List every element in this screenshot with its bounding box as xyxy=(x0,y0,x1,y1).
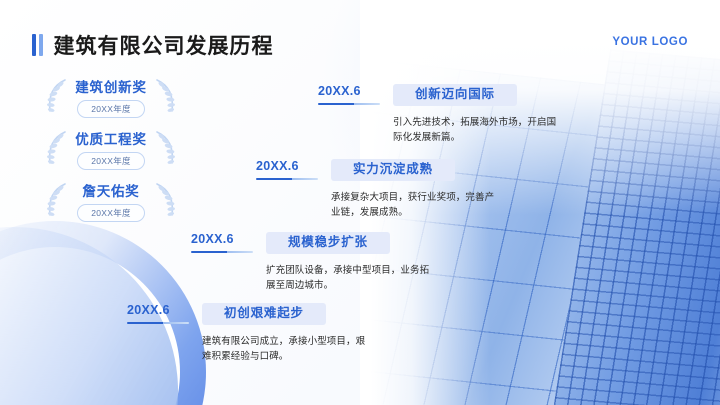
timeline-date: 20XX.6 xyxy=(191,232,253,247)
building-mullion xyxy=(577,78,684,405)
award-year-badge: 20XX年度 xyxy=(77,152,145,170)
timeline-date: 20XX.6 xyxy=(318,84,380,99)
laurel-wreath-icon xyxy=(152,78,178,116)
timeline-date-group: 20XX.6 xyxy=(127,303,189,324)
logo-placeholder: YOUR LOGO xyxy=(612,36,688,48)
timeline-item[interactable]: 20XX.6 创新迈向国际 引入先进技术，拓展海外市场，开启国际化发展新篇。 xyxy=(318,84,558,145)
timeline-title-chip: 创新迈向国际 xyxy=(393,84,517,106)
timeline-title-chip: 初创艰难起步 xyxy=(202,303,326,325)
award-name: 建筑创新奖 xyxy=(75,79,147,96)
laurel-wreath-icon xyxy=(44,182,70,220)
double-bar-icon xyxy=(32,34,43,56)
timeline-description: 扩充团队设备，承接中型项目，业务拓展至周边城市。 xyxy=(266,263,431,293)
timeline-date-underline xyxy=(127,322,189,324)
timeline-description: 承接复杂大项目，获行业奖项，完善产业链，发展成熟。 xyxy=(331,190,496,220)
timeline-description: 建筑有限公司成立，承接小型项目，艰难积累经验与口碑。 xyxy=(202,334,367,364)
timeline-item[interactable]: 20XX.6 初创艰难起步 建筑有限公司成立，承接小型项目，艰难积累经验与口碑。 xyxy=(127,303,367,364)
building-tower-right xyxy=(554,49,720,405)
laurel-wreath-icon xyxy=(152,130,178,168)
timeline-date-underline xyxy=(191,251,253,253)
award-item[interactable]: 詹天佑奖 20XX年度 xyxy=(26,182,196,234)
award-year-badge: 20XX年度 xyxy=(77,204,145,222)
timeline-description: 引入先进技术，拓展海外市场，开启国际化发展新篇。 xyxy=(393,115,558,145)
timeline-item-head: 20XX.6 创新迈向国际 xyxy=(318,84,558,106)
timeline-item[interactable]: 20XX.6 实力沉淀成熟 承接复杂大项目，获行业奖项，完善产业链，发展成熟。 xyxy=(256,159,496,220)
timeline-date: 20XX.6 xyxy=(127,303,189,318)
awards-list: 建筑创新奖 20XX年度 xyxy=(26,78,196,234)
laurel-wreath-icon xyxy=(44,130,70,168)
award-item[interactable]: 优质工程奖 20XX年度 xyxy=(26,130,196,182)
award-year-badge: 20XX年度 xyxy=(77,100,145,118)
timeline-date-underline xyxy=(318,103,380,105)
timeline-item-head: 20XX.6 规模稳步扩张 xyxy=(191,232,431,254)
laurel-wreath-icon xyxy=(44,78,70,116)
timeline-title-chip: 规模稳步扩张 xyxy=(266,232,390,254)
timeline-date-underline xyxy=(256,178,318,180)
timeline-date-group: 20XX.6 xyxy=(318,84,380,105)
timeline-item[interactable]: 20XX.6 规模稳步扩张 扩充团队设备，承接中型项目，业务拓展至周边城市。 xyxy=(191,232,431,293)
award-name: 优质工程奖 xyxy=(75,131,147,148)
timeline-date-group: 20XX.6 xyxy=(191,232,253,253)
timeline-item-head: 20XX.6 实力沉淀成熟 xyxy=(256,159,496,181)
timeline-item-head: 20XX.6 初创艰难起步 xyxy=(127,303,367,325)
timeline-title-chip: 实力沉淀成熟 xyxy=(331,159,455,181)
page-header: 建筑有限公司发展历程 xyxy=(32,30,274,60)
timeline-date: 20XX.6 xyxy=(256,159,318,174)
award-name: 詹天佑奖 xyxy=(82,183,139,200)
slide-canvas: 建筑有限公司发展历程 YOUR LOGO xyxy=(0,0,720,405)
award-item[interactable]: 建筑创新奖 20XX年度 xyxy=(26,78,196,130)
page-title: 建筑有限公司发展历程 xyxy=(54,30,274,60)
laurel-wreath-icon xyxy=(152,182,178,220)
timeline-date-group: 20XX.6 xyxy=(256,159,318,180)
